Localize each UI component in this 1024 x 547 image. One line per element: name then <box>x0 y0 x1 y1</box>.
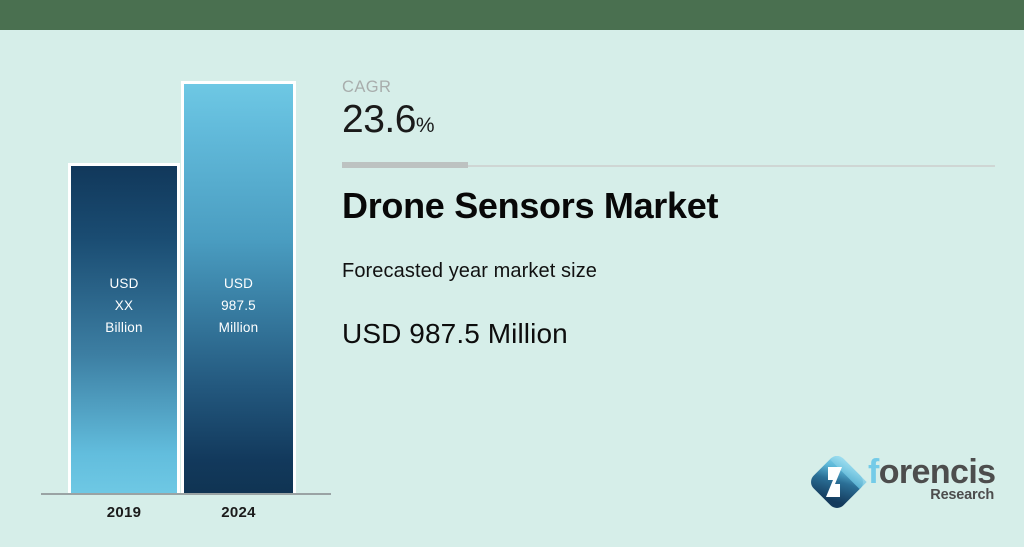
bar-2024-value-label: USD 987.5 Million <box>184 273 293 339</box>
forencis-diamond-bolt-icon <box>806 451 868 513</box>
forencis-initial-f: f <box>868 453 879 491</box>
forencis-wordmark: forencis Research <box>868 453 996 515</box>
cagr-number: 23.6 <box>342 98 416 141</box>
chart-x-axis-line <box>41 493 331 495</box>
bar-2019: USD XX Billion <box>68 163 180 493</box>
chart-x-axis-labels: 2019 2024 <box>41 504 331 534</box>
bar-2024-value-line3: Million <box>184 317 293 339</box>
bar-2024: USD 987.5 Million <box>181 81 296 493</box>
infographic-canvas: USD XX Billion USD 987.5 Million 2019 20… <box>0 0 1024 547</box>
divider-thick-accent <box>342 162 468 168</box>
bar-2019-value-line2: XX <box>71 295 177 317</box>
market-size-value: USD 987.5 Million <box>342 318 568 350</box>
section-divider <box>342 162 995 168</box>
axis-tick-label-2024: 2024 <box>181 504 296 521</box>
cagr-percent-sign: % <box>416 114 435 137</box>
cagr-label: CAGR <box>342 78 391 97</box>
bar-chart-panel: USD XX Billion USD 987.5 Million 2019 20… <box>0 30 336 547</box>
top-green-banner <box>0 0 1024 30</box>
bar-2019-value-line3: Billion <box>71 317 177 339</box>
cagr-value: 23.6% <box>342 98 435 142</box>
market-subtitle: Forecasted year market size <box>342 260 597 283</box>
bar-2024-value-line1: USD <box>184 273 293 295</box>
chart-plot-area: USD XX Billion USD 987.5 Million <box>41 50 331 493</box>
forencis-tagline: Research <box>930 487 994 503</box>
bar-2024-value-line2: 987.5 <box>184 295 293 317</box>
page-title: Drone Sensors Market <box>342 185 718 227</box>
forencis-research-logo: forencis Research <box>806 449 996 527</box>
axis-tick-label-2019: 2019 <box>68 504 180 521</box>
bar-2019-value-label: USD XX Billion <box>71 273 177 339</box>
bar-2019-value-line1: USD <box>71 273 177 295</box>
forencis-brand-text: forencis <box>868 453 995 491</box>
forencis-brand-rest: orencis <box>879 453 996 491</box>
